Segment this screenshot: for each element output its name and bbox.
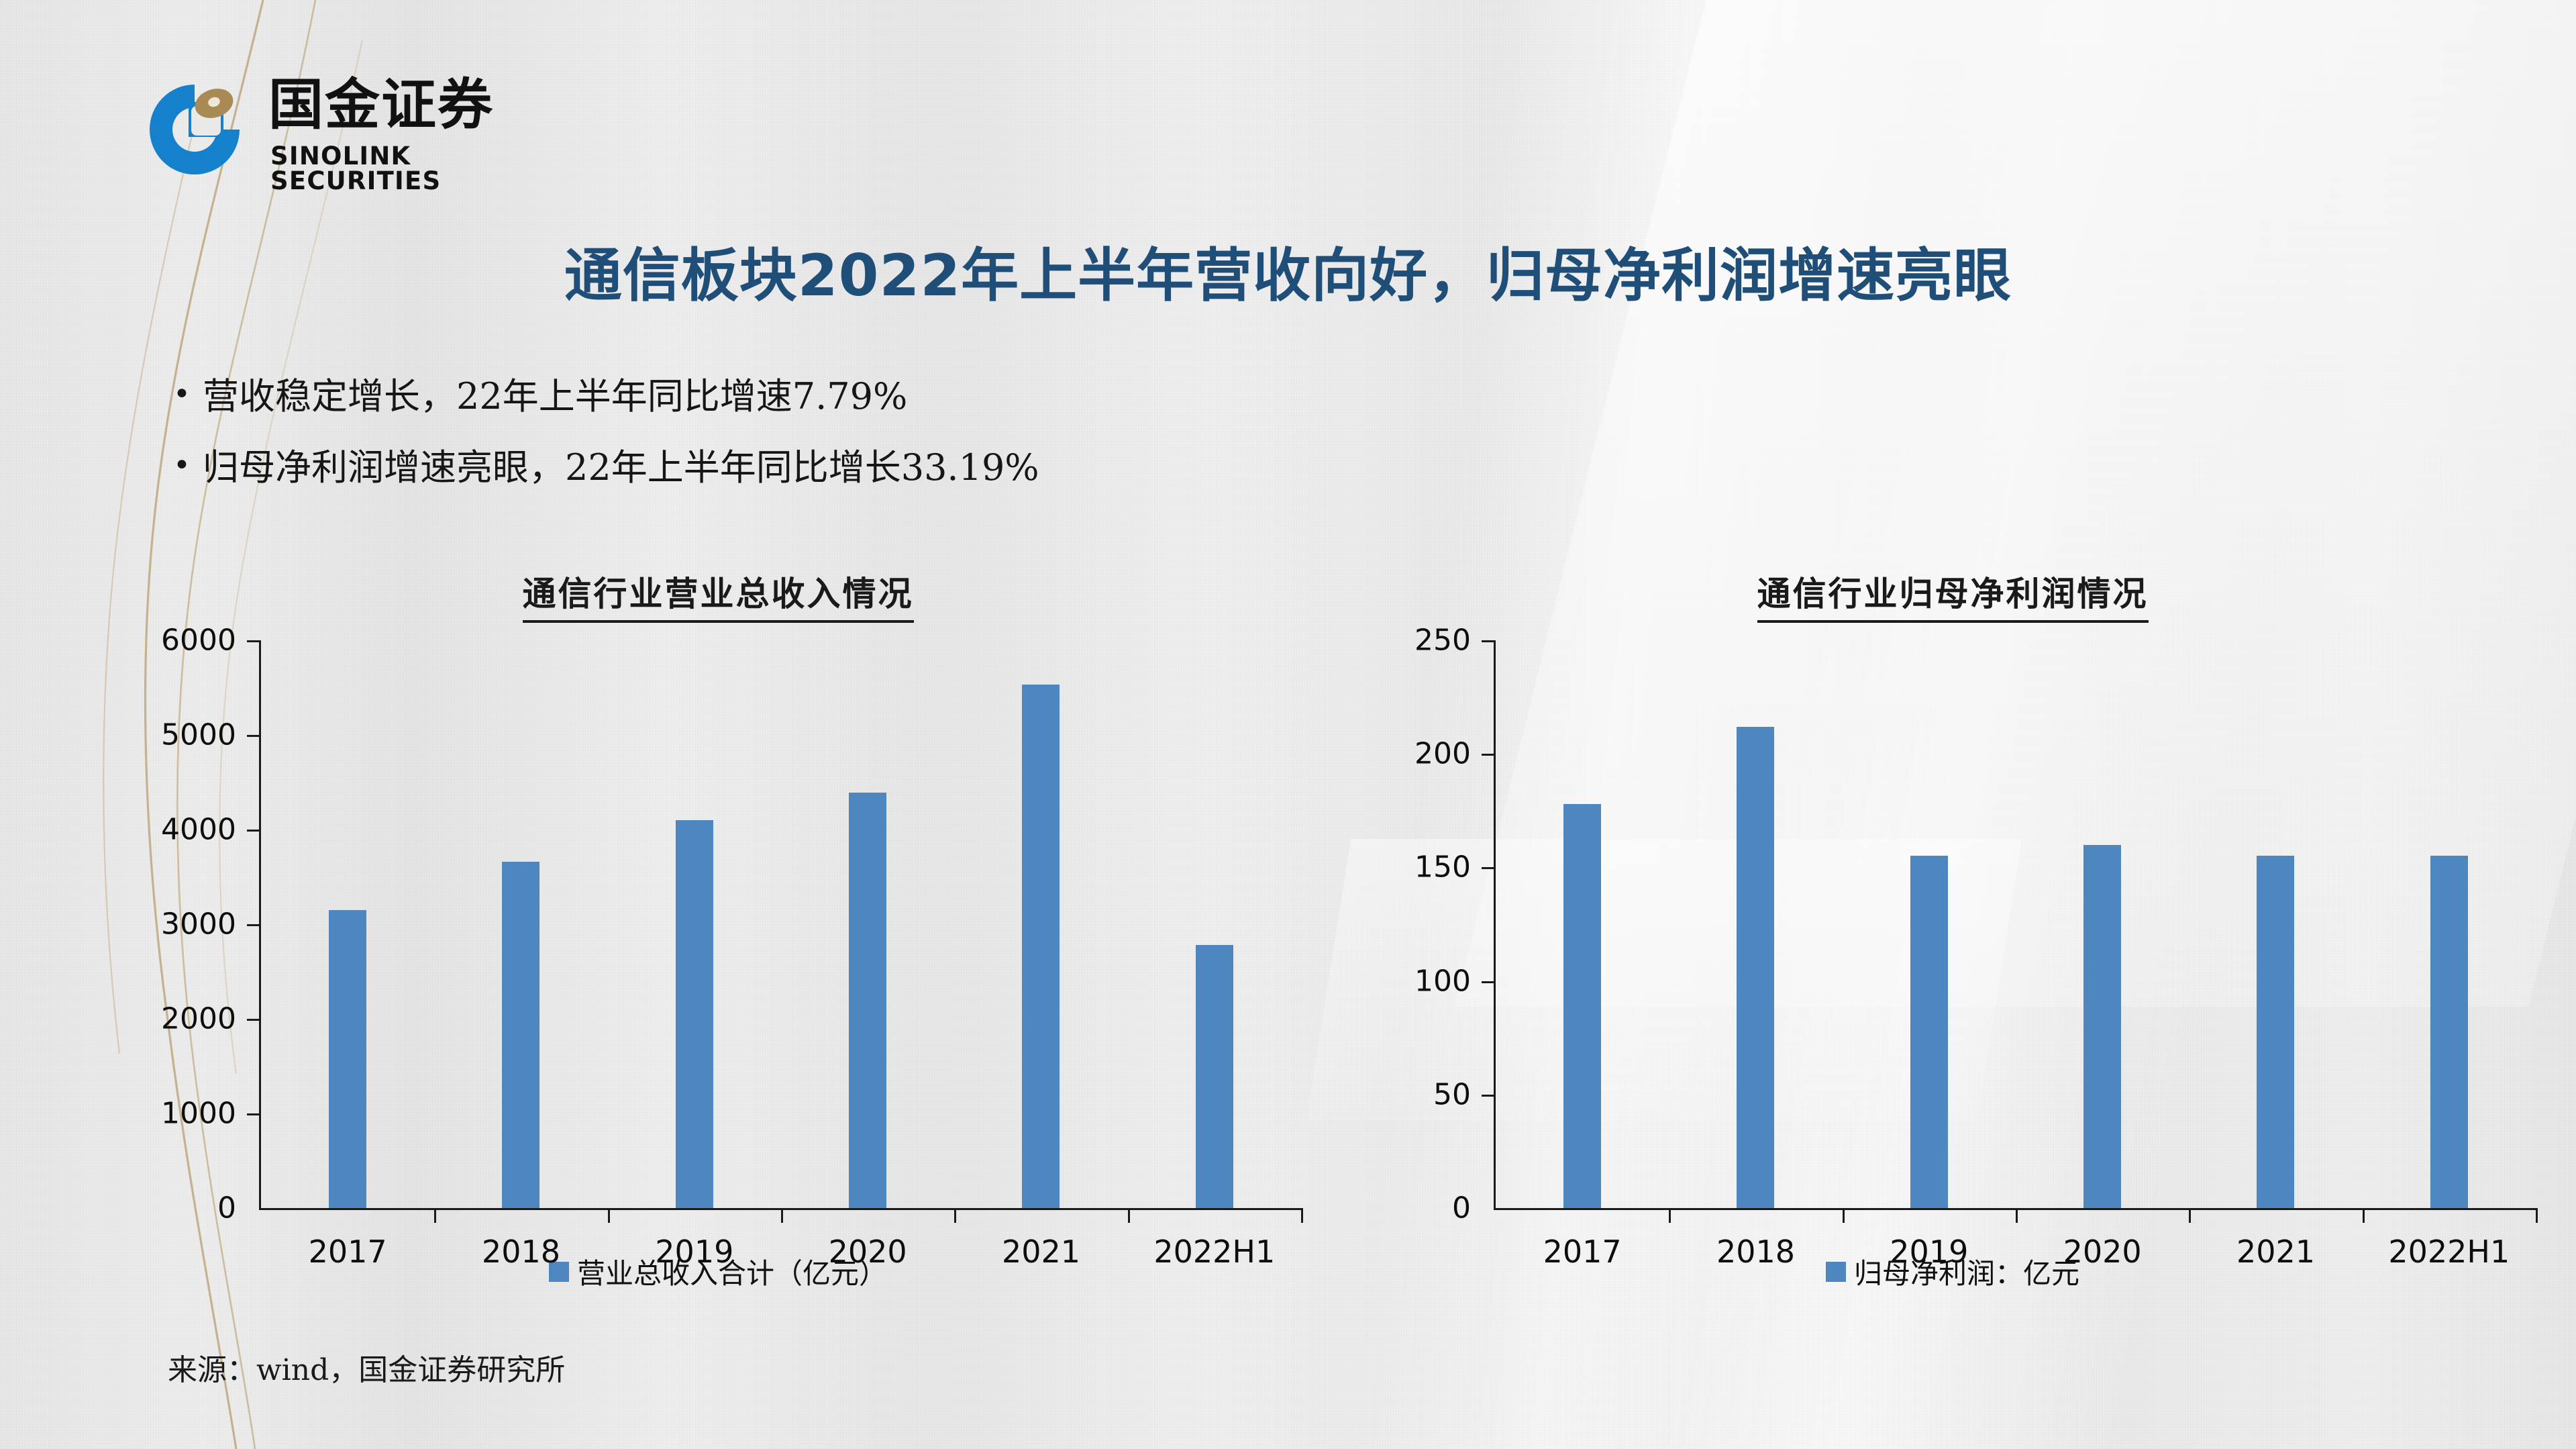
x-axis-tick [2189,1208,2191,1223]
y-tick-label: 5000 [161,718,236,752]
y-axis-tick [247,640,259,642]
y-axis-tick [247,735,259,737]
x-axis-tick [2536,1208,2538,1223]
y-tick-label: 1000 [161,1097,236,1131]
y-tick-label: 4000 [161,813,236,847]
y-axis-tick [1482,1095,1494,1097]
bar-series-net-profit [1496,640,2536,1208]
bar-cell [261,640,434,1208]
bar-2022H1[interactable] [2430,856,2468,1208]
chart-title-revenue: 通信行业营业总收入情况 [127,577,1308,620]
chart-revenue: 通信行业营业总收入情况 6000500040003000200010000 20… [127,577,1308,1292]
bar-cell [1128,640,1301,1208]
y-tick-label: 6000 [161,623,236,658]
x-tick-label: 2020 [2016,1234,2189,1270]
x-axis-tick [2363,1208,2365,1223]
bar-2017[interactable] [1563,804,1601,1208]
y-axis-tick [1482,754,1494,756]
x-axis-tick [1301,1208,1303,1223]
x-tick-label: 2020 [781,1234,954,1270]
bullet-list: • 营收稳定增长，22年上半年同比增速7.79% • 归母净利润增速亮眼，22年… [173,376,1515,518]
bullet-text: 归母净利润增速亮眼，22年上半年同比增长33.19% [203,447,1039,489]
x-tick-label: 2021 [2189,1234,2362,1270]
source-note: 来源：wind，国金证券研究所 [168,1346,565,1389]
y-axis-tick [247,1019,259,1021]
brand-logo: 国金证券 SINOLINK SECURITIES [144,74,574,181]
bar-2018[interactable] [1737,727,1774,1208]
x-tick-label: 2018 [434,1234,607,1270]
x-tick-label: 2019 [608,1234,781,1270]
bullet-marker-icon: • [173,376,203,413]
bullet-marker-icon: • [173,447,203,484]
bullet-text: 营收稳定增长，22年上半年同比增速7.79% [203,376,907,417]
bar-2022H1[interactable] [1196,945,1233,1208]
page-title: 通信板块2022年上半年营收向好，归母净利润增速亮眼 [0,228,2576,312]
plot-area-net-profit: 250200150100500 201720182019202020212022… [1362,640,2543,1231]
x-axis-tick [781,1208,783,1223]
bar-cell [2363,640,2536,1208]
bar-2017[interactable] [329,910,366,1208]
bar-2021[interactable] [1022,685,1060,1208]
bar-2020[interactable] [2083,845,2121,1208]
x-axis-tick [1843,1208,1845,1223]
x-axis-tick [954,1208,956,1223]
y-tick-label: 0 [1452,1191,1471,1226]
chart-title-net-profit: 通信行业归母净利润情况 [1362,577,2543,620]
y-axis-tick [247,1113,259,1115]
bar-2019[interactable] [676,820,713,1208]
x-axis-tick [2016,1208,2018,1223]
y-tick-label: 150 [1414,850,1471,885]
y-tick-label: 200 [1414,737,1471,771]
y-tick-label: 0 [217,1191,236,1226]
x-axis-tick [1669,1208,1671,1223]
bar-cell [608,640,781,1208]
list-item: • 归母净利润增速亮眼，22年上半年同比增长33.19% [173,447,1515,489]
bar-cell [2189,640,2362,1208]
x-tick-label: 2017 [261,1234,434,1270]
y-axis-tick [1482,640,1494,642]
y-tick-label: 50 [1433,1077,1471,1111]
x-tick-label: 2022H1 [2363,1234,2536,1270]
bar-2019[interactable] [1910,856,1948,1208]
chart-net-profit: 通信行业归母净利润情况 250200150100500 201720182019… [1362,577,2543,1292]
y-axis-tick [247,830,259,832]
bar-2021[interactable] [2257,856,2294,1208]
bar-cell [1843,640,2016,1208]
bar-cell [1496,640,1669,1208]
y-tick-label: 250 [1414,623,1471,658]
y-axis-tick [1482,981,1494,983]
x-axis-labels-revenue: 201720182019202020212022H1 [261,1234,1301,1270]
x-tick-label: 2018 [1669,1234,1842,1270]
bar-cell [781,640,954,1208]
y-axis-labels-net-profit: 250200150100500 [1362,640,1483,1208]
bar-cell [2016,640,2189,1208]
x-axis-tick [608,1208,610,1223]
brand-logo-cn: 国金证券 [268,78,494,133]
plot-area-revenue: 6000500040003000200010000 20172018201920… [127,640,1308,1231]
x-tick-label: 2021 [954,1234,1127,1270]
brand-logo-en: SINOLINK SECURITIES [270,144,574,193]
y-tick-label: 3000 [161,907,236,942]
bar-cell [434,640,607,1208]
sinolink-c-mark-icon [144,79,245,180]
slide-canvas: 国金证券 SINOLINK SECURITIES 通信板块2022年上半年营收向… [0,0,2576,1449]
x-tick-label: 2019 [1843,1234,2016,1270]
y-tick-label: 2000 [161,1002,236,1036]
x-tick-label: 2022H1 [1128,1234,1301,1270]
y-axis-tick [247,924,259,926]
bar-2018[interactable] [502,862,539,1208]
y-axis-labels-revenue: 6000500040003000200010000 [127,640,248,1208]
x-axis-tick [1128,1208,1130,1223]
x-axis-tick [434,1208,436,1223]
x-axis-labels-net-profit: 201720182019202020212022H1 [1496,1234,2536,1270]
bar-2020[interactable] [849,793,886,1208]
y-axis-tick [1482,867,1494,869]
bar-series-revenue [261,640,1301,1208]
x-tick-label: 2017 [1496,1234,1669,1270]
bar-cell [1669,640,1842,1208]
y-tick-label: 100 [1414,964,1471,998]
list-item: • 营收稳定增长，22年上半年同比增速7.79% [173,376,1515,417]
bar-cell [954,640,1127,1208]
